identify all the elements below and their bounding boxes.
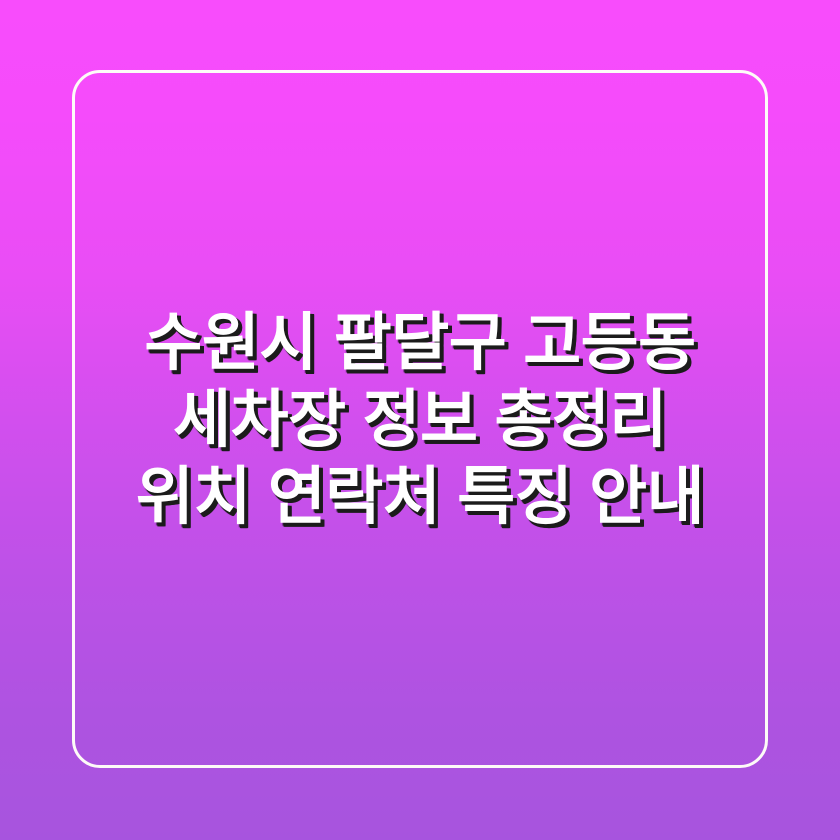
title-line-1: 수원시 팔달구 고등동 — [0, 305, 840, 382]
title-line-3: 위치 연락처 특징 안내 — [0, 459, 840, 536]
title-block: 수원시 팔달구 고등동 세차장 정보 총정리 위치 연락처 특징 안내 — [0, 0, 840, 840]
title-line-2: 세차장 정보 총정리 — [0, 382, 840, 459]
thumbnail-card: 수원시 팔달구 고등동 세차장 정보 총정리 위치 연락처 특징 안내 — [0, 0, 840, 840]
